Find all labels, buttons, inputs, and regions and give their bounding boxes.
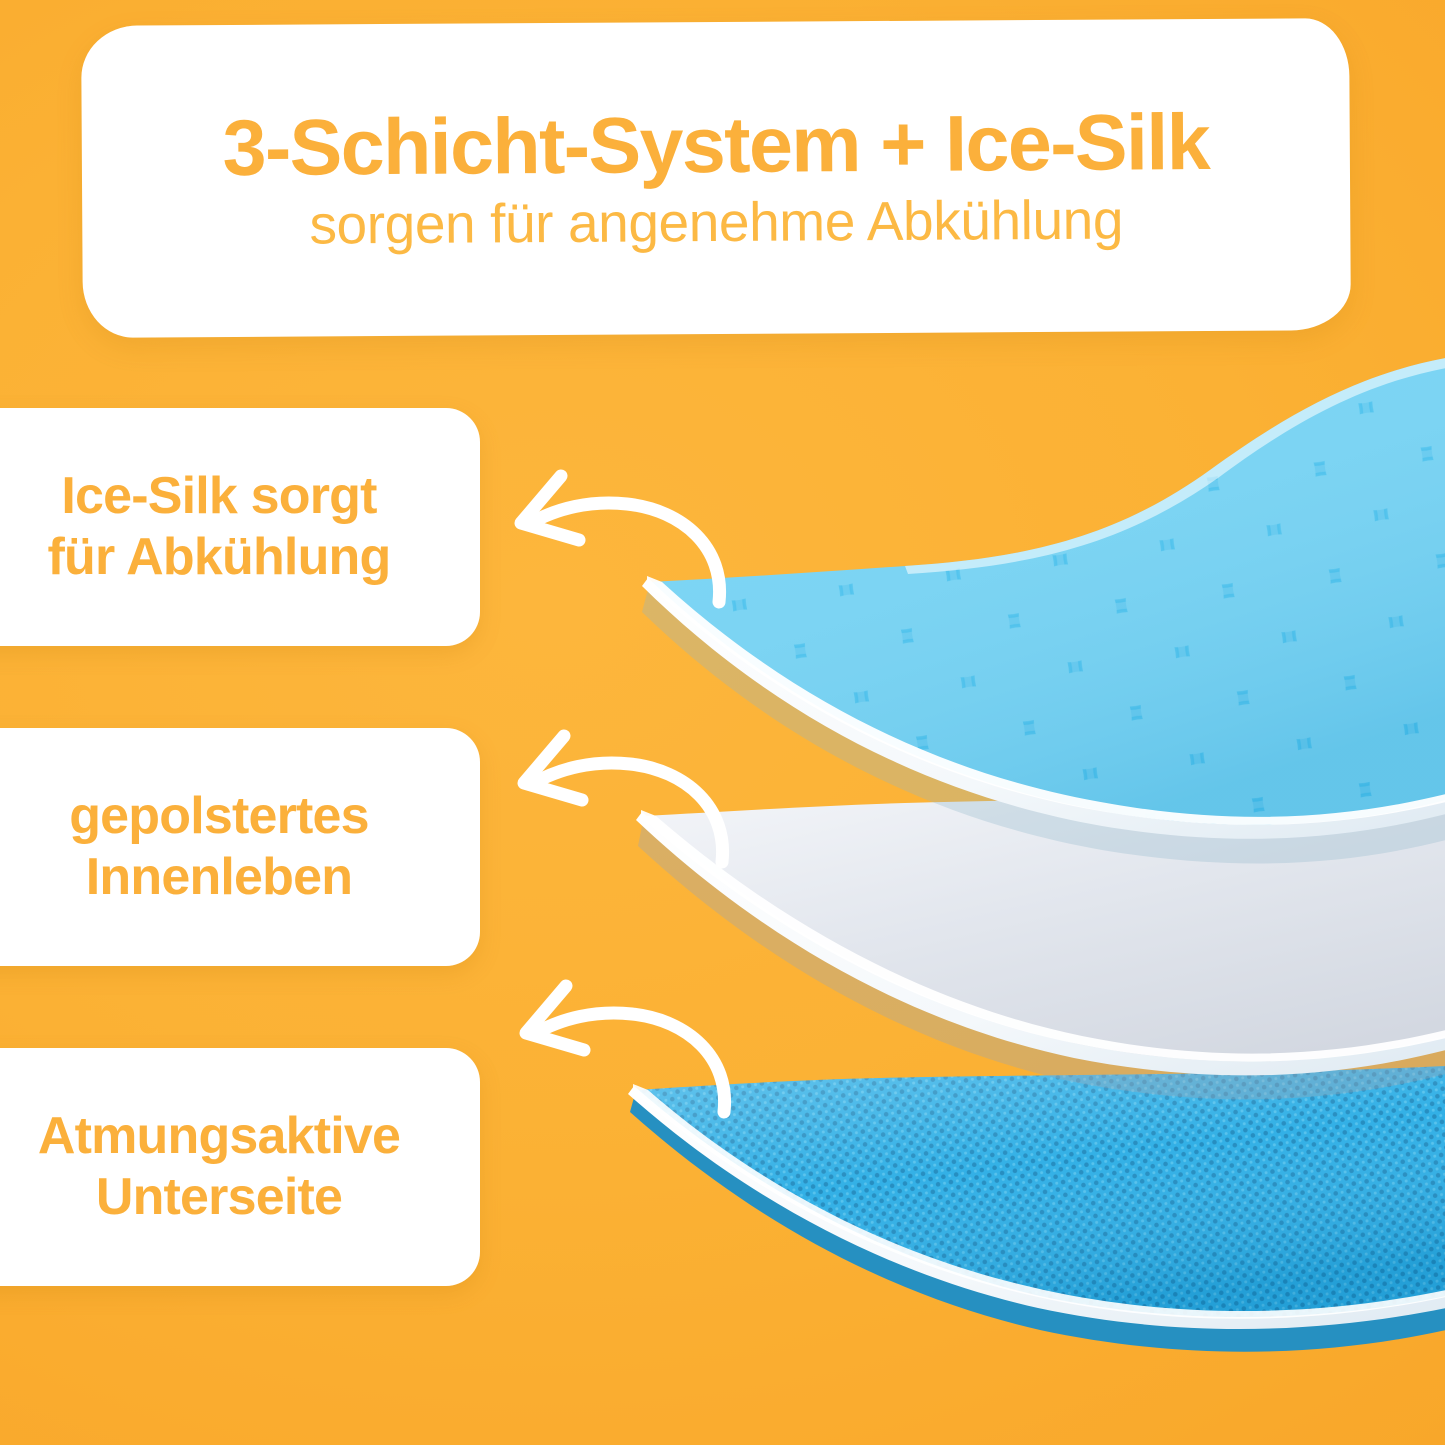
curved-arrow-left-icon xyxy=(492,962,792,1162)
feature-label-line2: für Abkühlung xyxy=(48,528,391,586)
curved-arrow-left-icon xyxy=(490,712,790,912)
header-card: 3-Schicht-System + Ice-Silk sorgen für a… xyxy=(81,18,1351,338)
feature-label-line2: Unterseite xyxy=(96,1168,342,1226)
product-layer-top xyxy=(642,358,1445,863)
feature-card-breathable: Atmungsaktive Unterseite xyxy=(0,1048,480,1286)
page-subtitle: sorgen für angenehme Abkühlung xyxy=(309,189,1123,254)
feature-card-ice-silk: Ice-Silk sorgt für Abkühlung xyxy=(0,408,480,646)
product-layer-middle xyxy=(636,790,1445,1099)
feature-label: Atmungsaktive Unterseite xyxy=(38,1106,400,1228)
feature-label: Ice-Silk sorgt für Abkühlung xyxy=(48,466,391,588)
feature-label-line1: gepolstertes xyxy=(69,787,369,845)
promo-infographic: 3-Schicht-System + Ice-Silk sorgen für a… xyxy=(0,0,1445,1445)
product-layer-bottom xyxy=(628,1066,1445,1352)
feature-card-padding: gepolstertes Innenleben xyxy=(0,728,480,966)
feature-label-line2: Innenleben xyxy=(86,848,352,906)
page-title: 3-Schicht-System + Ice-Silk xyxy=(222,101,1209,189)
curved-arrow-left-icon xyxy=(487,452,787,652)
feature-label-line1: Atmungsaktive xyxy=(38,1107,400,1165)
feature-label: gepolstertes Innenleben xyxy=(69,786,369,908)
feature-label-line1: Ice-Silk sorgt xyxy=(61,467,376,525)
